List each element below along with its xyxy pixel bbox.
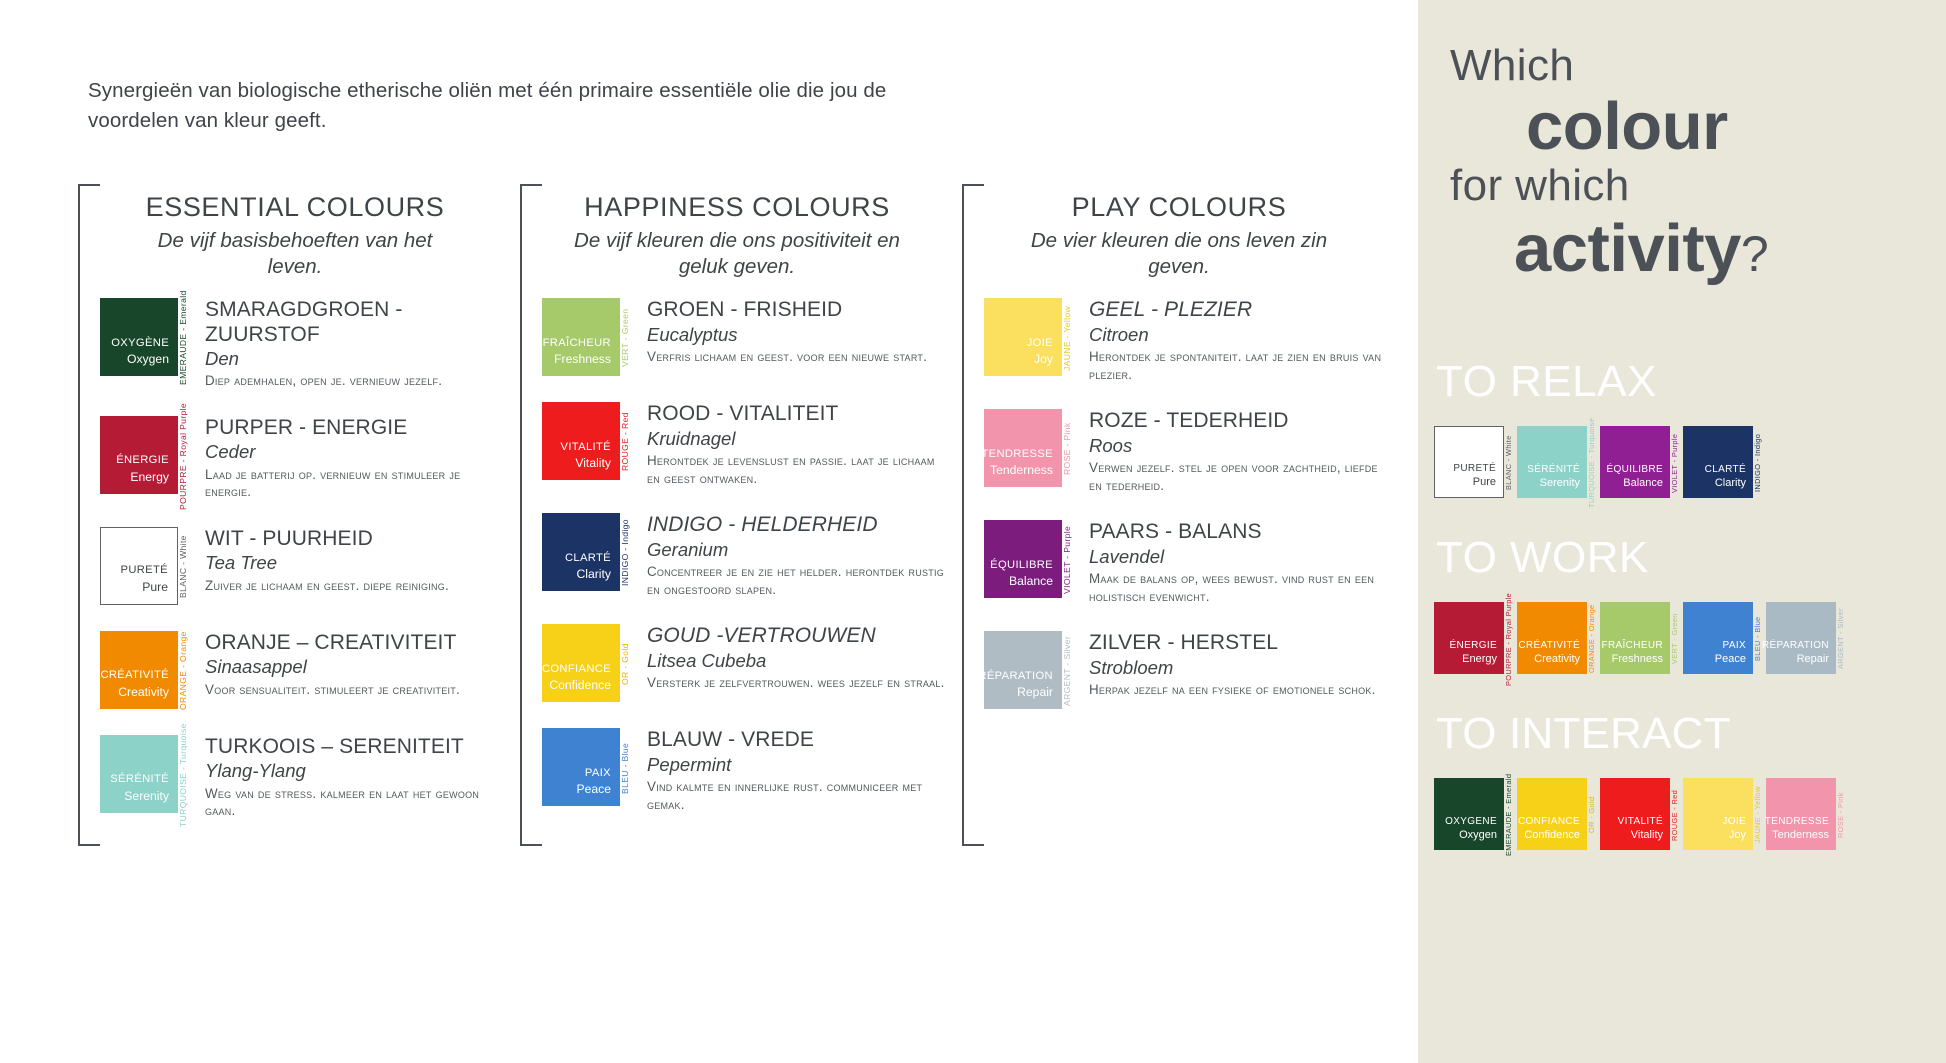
swatch-label-fr: CLARTÉ (1705, 463, 1746, 477)
entry-oil-name: Lavendel (1089, 546, 1388, 568)
swatch-side-label: EMERAUDE - Emerald (1504, 778, 1517, 850)
entry-description: Herontdek je levenslust en passie. Laat … (647, 452, 946, 487)
activity-swatch-strip: ÉNERGIEEnergyPOURPRE - Royal PurpleCRÉAT… (1418, 602, 1946, 674)
hero-line-for-which: for which (1440, 164, 1924, 208)
swatch-label-fr: PURETÉ (121, 563, 168, 578)
swatch-label-fr: TENDRESSE (1765, 815, 1829, 829)
colour-swatch-group: TENDRESSETendernessROSE - Pink (984, 409, 1077, 487)
entry-text: ROOD - VITALITEITKruidnagelHerontdek je … (635, 402, 946, 487)
swatch-label-fr: JOIE (1027, 336, 1053, 351)
swatch-label-en: Pure (1473, 475, 1496, 490)
entry-description: Herontdek je spontaniteit. Laat je zien … (1089, 348, 1388, 383)
hero-line-colour: colour (1440, 92, 1924, 162)
entry-text: ZILVER - HERSTELStrobloemHerpak jezelf n… (1077, 631, 1388, 698)
colour-entry: SÉRÉNITÉSerenityTURQUOISE - TurquoiseTUR… (100, 735, 504, 820)
swatch-label-en: Joy (1729, 828, 1746, 843)
colour-swatch-group: ÉNERGIEEnergyPOURPRE - Royal Purple (1434, 602, 1517, 674)
entry-description: Concentreer je en zie het helder. Heront… (647, 563, 946, 598)
entry-description: Herpak jezelf na een fysieke of emotione… (1089, 681, 1388, 699)
swatch-label-fr: ÉQUILIBRE (1607, 463, 1664, 477)
entry-title: GOUD -VERTROUWEN (647, 624, 946, 648)
swatch-label-fr: JOIE (1722, 815, 1746, 829)
entry-oil-name: Strobloem (1089, 657, 1388, 679)
colour-swatch-group: VITALITÉVitalityROUGE - Red (1600, 778, 1683, 850)
entry-title: BLAUW - VREDE (647, 728, 946, 752)
entry-description: Versterk je zelfvertrouwen. Wees jezelf … (647, 674, 946, 692)
entry-oil-name: Ceder (205, 441, 504, 463)
colour-columns: ESSENTIAL COLOURSDe vijf basisbehoeften … (78, 184, 1398, 846)
swatch-side-label: VIOLET - Purple (1062, 520, 1077, 598)
colour-entry: FRAÎCHEURFreshnessVERT - GreenGROEN - FR… (542, 298, 946, 376)
colour-swatch-group: JOIEJoyJAUNE - Yellow (984, 298, 1077, 376)
colour-entry-list: OXYGÈNEOxygenEMERAUDE - EmeraldSMARAGDGR… (100, 298, 504, 819)
entry-oil-name: Ylang-Ylang (205, 760, 504, 782)
entry-text: SMARAGDGROEN - ZUURSTOFDenDiep ademhalen… (193, 298, 504, 390)
colour-entry: JOIEJoyJAUNE - YellowGEEL - PLEZIERCitro… (984, 298, 1388, 383)
entry-title: ZILVER - HERSTEL (1089, 631, 1388, 655)
swatch-label-en: Serenity (124, 788, 169, 804)
right-panel: Which colour for which activity? TO RELA… (1418, 0, 1946, 1063)
swatch-label-en: Creativity (1534, 652, 1580, 667)
swatch-label-en: Serenity (1540, 476, 1580, 491)
swatch-label-fr: CRÉATIVITÉ (100, 668, 169, 683)
swatch-label-fr: FRAÎCHEUR (1602, 639, 1664, 653)
swatch-label-en: Creativity (118, 684, 169, 700)
activity-title: TO WORK (1418, 536, 1946, 580)
hero-line-which: Which (1440, 44, 1924, 88)
colour-entry-list: FRAÎCHEURFreshnessVERT - GreenGROEN - FR… (542, 298, 946, 813)
activity-swatch-strip: OXYGENEOxygenEMERAUDE - EmeraldCONFIANCE… (1418, 778, 1946, 850)
swatch-label-en: Repair (1797, 652, 1829, 667)
swatch-label-fr: VITALITÉ (561, 440, 611, 455)
swatch-side-label: VERT - Green (620, 298, 635, 376)
swatch-side-label: ARGENT - Silver (1836, 602, 1849, 674)
colour-swatch-group: PAIXPeaceBLEU - Blue (542, 728, 635, 806)
entry-oil-name: Pepermint (647, 754, 946, 776)
swatch-side-label: TURQUOISE - Turquoise (1587, 426, 1600, 498)
colour-entry: PURETÉPureBLANC - WhiteWIT - PUURHEIDTea… (100, 527, 504, 605)
entry-text: ROZE - TEDERHEIDRoosVerwen jezelf. Stel … (1077, 409, 1388, 494)
entry-title: WIT - PUURHEID (205, 527, 504, 551)
colour-swatch-group: OXYGÈNEOxygenEMERAUDE - Emerald (100, 298, 193, 376)
colour-swatch[interactable]: CRÉATIVITÉCreativity (1517, 602, 1587, 674)
entry-oil-name: Sinaasappel (205, 656, 504, 678)
colour-swatch[interactable]: TENDRESSETenderness (1766, 778, 1836, 850)
colour-swatch[interactable]: ÉQUILIBREBalance (1600, 426, 1670, 498)
swatch-label-en: Balance (1623, 476, 1663, 491)
infographic-page: Synergieën van biologische etherische ol… (0, 0, 1946, 1063)
intro-paragraph: Synergieën van biologische etherische ol… (88, 76, 968, 135)
swatch-label-en: Pure (142, 579, 168, 595)
entry-text: GROEN - FRISHEIDEucalyptusVerfris lichaa… (635, 298, 946, 365)
swatch-label-en: Confidence (549, 677, 611, 693)
entry-text: WIT - PUURHEIDTea TreeZuiver je lichaam … (193, 527, 504, 594)
swatch-side-label: ROUGE - Red (1670, 778, 1683, 850)
entry-text: ORANJE – CREATIVITEITSinaasappelVoor sen… (193, 631, 504, 698)
colour-swatch-group: FRAÎCHEURFreshnessVERT - Green (1600, 602, 1683, 674)
colour-swatch[interactable]: SÉRÉNITÉSerenity (1517, 426, 1587, 498)
colour-swatch[interactable]: OXYGENEOxygen (1434, 778, 1504, 850)
entry-description: Laad je batterij op. Vernieuw en stimule… (205, 466, 504, 501)
swatch-label-en: Freshness (554, 351, 611, 367)
swatch-label-en: Oxygen (127, 351, 169, 367)
entry-title: ROOD - VITALITEIT (647, 402, 946, 426)
entry-title: PAARS - BALANS (1089, 520, 1388, 544)
swatch-side-label: VERT - Green (1670, 602, 1683, 674)
swatch-label-fr: SÉRÉNITÉ (1527, 463, 1580, 477)
swatch-label-fr: VITALITÉ (1618, 815, 1663, 829)
activity-section: TO INTERACTOXYGENEOxygenEMERAUDE - Emera… (1418, 712, 1946, 850)
entry-oil-name: Tea Tree (205, 552, 504, 574)
swatch-label-fr: CRÉATIVITÉ (1518, 639, 1580, 653)
swatch-side-label: BLANC - White (178, 527, 193, 605)
swatch-label-en: Joy (1034, 351, 1053, 367)
colour-swatch[interactable]: RÉPARATIONRepair (984, 631, 1062, 709)
swatch-label-fr: SÉRÉNITÉ (110, 772, 169, 787)
swatch-side-label: POURPRE - Royal Purple (178, 416, 193, 494)
colour-swatch-group: CRÉATIVITÉCreativityORANGE - Orange (1517, 602, 1600, 674)
swatch-side-label: ORANGE - Orange (178, 631, 193, 709)
swatch-label-fr: CONFIANCE (1518, 815, 1580, 829)
entry-description: Diep ademhalen, open je. Vernieuw jezelf… (205, 372, 504, 390)
column-title: HAPPINESS COLOURS (548, 192, 926, 223)
colour-swatch-group: CONFIANCEConfidenceOR - Gold (1517, 778, 1600, 850)
colour-swatch-group: PAIXPeaceBLEU - Blue (1683, 602, 1766, 674)
column-header: PLAY COLOURSDe vier kleuren die ons leve… (984, 184, 1388, 280)
swatch-label-fr: RÉPARATION (1762, 639, 1829, 653)
left-content-area: Synergieën van biologische etherische ol… (0, 0, 1418, 1063)
colour-swatch[interactable]: FRAÎCHEURFreshness (542, 298, 620, 376)
colour-swatch[interactable]: CRÉATIVITÉCreativity (100, 631, 178, 709)
swatch-side-label: BLEU - Blue (620, 728, 635, 806)
entry-title: INDIGO - HELDERHEID (647, 513, 946, 537)
swatch-label-en: Clarity (1715, 476, 1746, 491)
swatch-label-fr: OXYGÈNE (111, 336, 169, 351)
colour-swatch[interactable]: ÉNERGIEEnergy (100, 416, 178, 494)
colour-swatch[interactable]: PURETÉPure (1434, 426, 1504, 498)
swatch-side-label: ORANGE - Orange (1587, 602, 1600, 674)
activity-swatch-strip: PURETÉPureBLANC - WhiteSÉRÉNITÉSerenityT… (1418, 426, 1946, 498)
colour-column: ESSENTIAL COLOURSDe vijf basisbehoeften … (78, 184, 514, 846)
activity-title: TO RELAX (1418, 360, 1946, 404)
entry-text: BLAUW - VREDEPepermintVind kalmte en inn… (635, 728, 946, 813)
swatch-label-en: Peace (1715, 652, 1746, 667)
colour-swatch[interactable]: PAIXPeace (1683, 602, 1753, 674)
swatch-label-en: Repair (1017, 684, 1053, 700)
colour-swatch-group: SÉRÉNITÉSerenityTURQUOISE - Turquoise (1517, 426, 1600, 498)
column-subtitle: De vijf kleuren die ons positiviteit en … (548, 228, 926, 280)
activity-section: TO WORKÉNERGIEEnergyPOURPRE - Royal Purp… (1418, 536, 1946, 674)
colour-column: HAPPINESS COLOURSDe vijf kleuren die ons… (520, 184, 956, 846)
colour-swatch-group: FRAÎCHEURFreshnessVERT - Green (542, 298, 635, 376)
colour-swatch[interactable]: CLARTÉClarity (542, 513, 620, 591)
colour-swatch-group: JOIEJoyJAUNE - Yellow (1683, 778, 1766, 850)
swatch-side-label: POURPRE - Royal Purple (1504, 602, 1517, 674)
swatch-label-en: Vitality (575, 455, 611, 471)
swatch-label-en: Freshness (1612, 652, 1663, 667)
activity-section: TO RELAXPURETÉPureBLANC - WhiteSÉRÉNITÉS… (1418, 360, 1946, 498)
hero-activity-word: activity (1514, 211, 1741, 286)
entry-description: Verwen jezelf. Stel je open voor zachthe… (1089, 459, 1388, 494)
colour-entry: ÉQUILIBREBalanceVIOLET - PurplePAARS - B… (984, 520, 1388, 605)
entry-oil-name: Roos (1089, 435, 1388, 457)
swatch-label-en: Energy (1462, 652, 1497, 667)
entry-oil-name: Litsea Cubeba (647, 650, 946, 672)
colour-swatch[interactable]: VITALITÉVitality (542, 402, 620, 480)
swatch-side-label: EMERAUDE - Emerald (178, 298, 193, 376)
swatch-label-fr: PURETÉ (1453, 462, 1496, 476)
swatch-side-label: TURQUOISE - Turquoise (178, 735, 193, 813)
entry-oil-name: Den (205, 348, 504, 370)
colour-swatch-group: PURETÉPureBLANC - White (100, 527, 193, 605)
entry-oil-name: Citroen (1089, 324, 1388, 346)
swatch-side-label: OR - Gold (620, 624, 635, 702)
entry-text: GEEL - PLEZIERCitroenHerontdek je sponta… (1077, 298, 1388, 383)
colour-swatch-group: CLARTÉClarityINDIGO - Indigo (542, 513, 635, 591)
swatch-side-label: ROSE - Pink (1836, 778, 1849, 850)
swatch-label-en: Balance (1009, 573, 1053, 589)
colour-swatch-group: ÉQUILIBREBalanceVIOLET - Purple (1600, 426, 1683, 498)
colour-swatch[interactable]: FRAÎCHEURFreshness (1600, 602, 1670, 674)
colour-swatch-group: RÉPARATIONRepairARGENT - Silver (1766, 602, 1849, 674)
swatch-label-en: Clarity (576, 566, 611, 582)
colour-swatch[interactable]: CONFIANCEConfidence (542, 624, 620, 702)
hero-line-activity: activity? (1440, 214, 1924, 284)
entry-title: PURPER - ENERGIE (205, 416, 504, 440)
entry-text: TURKOOIS – SERENITEITYlang-YlangWeg van … (193, 735, 504, 820)
swatch-label-en: Oxygen (1459, 828, 1497, 843)
entry-description: Weg van de stress. Kalmeer en laat het g… (205, 785, 504, 820)
colour-swatch-group: TENDRESSETendernessROSE - Pink (1766, 778, 1849, 850)
entry-description: Voor sensualiteit. Stimuleert je creativ… (205, 681, 504, 699)
entry-description: Zuiver je lichaam en geest. Diepe reinig… (205, 577, 504, 595)
column-title: PLAY COLOURS (990, 192, 1368, 223)
column-subtitle: De vijf basisbehoeften van het leven. (106, 228, 484, 280)
swatch-label-fr: ÉQUILIBRE (990, 558, 1053, 573)
swatch-label-en: Tenderness (1772, 828, 1829, 843)
swatch-label-fr: TENDRESSE (981, 447, 1053, 462)
entry-title: GROEN - FRISHEID (647, 298, 946, 322)
swatch-side-label: VIOLET - Purple (1670, 426, 1683, 498)
swatch-label-en: Energy (130, 469, 169, 485)
swatch-side-label: BLANC - White (1504, 426, 1517, 498)
colour-entry: OXYGÈNEOxygenEMERAUDE - EmeraldSMARAGDGR… (100, 298, 504, 390)
entry-description: Vind kalmte en innerlijke rust. Communic… (647, 778, 946, 813)
swatch-side-label: JAUNE - Yellow (1062, 298, 1077, 376)
colour-entry-list: JOIEJoyJAUNE - YellowGEEL - PLEZIERCitro… (984, 298, 1388, 709)
swatch-side-label: ROUGE - Red (620, 402, 635, 480)
colour-column: PLAY COLOURSDe vier kleuren die ons leve… (962, 184, 1398, 846)
swatch-label-fr: CLARTÉ (565, 551, 611, 566)
colour-swatch-group: CLARTÉClarityINDIGO - Indigo (1683, 426, 1766, 498)
colour-swatch[interactable]: CLARTÉClarity (1683, 426, 1753, 498)
colour-swatch[interactable]: JOIEJoy (1683, 778, 1753, 850)
colour-swatch[interactable]: CONFIANCEConfidence (1517, 778, 1587, 850)
colour-swatch-group: PURETÉPureBLANC - White (1434, 426, 1517, 498)
colour-entry: RÉPARATIONRepairARGENT - SilverZILVER - … (984, 631, 1388, 709)
swatch-side-label: OR - Gold (1587, 778, 1600, 850)
entry-oil-name: Geranium (647, 539, 946, 561)
column-header: HAPPINESS COLOURSDe vijf kleuren die ons… (542, 184, 946, 280)
colour-swatch-group: RÉPARATIONRepairARGENT - Silver (984, 631, 1077, 709)
entry-text: INDIGO - HELDERHEIDGeraniumConcentreer j… (635, 513, 946, 598)
colour-swatch[interactable]: RÉPARATIONRepair (1766, 602, 1836, 674)
colour-swatch-group: OXYGENEOxygenEMERAUDE - Emerald (1434, 778, 1517, 850)
colour-swatch[interactable]: TENDRESSETenderness (984, 409, 1062, 487)
swatch-side-label: INDIGO - Indigo (1753, 426, 1766, 498)
swatch-label-en: Confidence (1524, 828, 1580, 843)
colour-swatch-group: SÉRÉNITÉSerenityTURQUOISE - Turquoise (100, 735, 193, 813)
entry-title: SMARAGDGROEN - ZUURSTOF (205, 298, 504, 347)
entry-description: Verfris lichaam en geest. Voor een nieuw… (647, 348, 946, 366)
entry-title: GEEL - PLEZIER (1089, 298, 1388, 322)
colour-entry: VITALITÉVitalityROUGE - RedROOD - VITALI… (542, 402, 946, 487)
entry-title: TURKOOIS – SERENITEIT (205, 735, 504, 759)
swatch-label-en: Peace (576, 781, 611, 797)
colour-entry: CONFIANCEConfidenceOR - GoldGOUD -VERTRO… (542, 624, 946, 702)
column-subtitle: De vier kleuren die ons leven zin geven. (990, 228, 1368, 280)
colour-swatch[interactable]: ÉNERGIEEnergy (1434, 602, 1504, 674)
swatch-label-fr: CONFIANCE (542, 662, 611, 677)
colour-swatch-group: ÉNERGIEEnergyPOURPRE - Royal Purple (100, 416, 193, 494)
entry-oil-name: Kruidnagel (647, 428, 946, 450)
swatch-label-fr: PAIX (585, 766, 611, 781)
colour-swatch[interactable]: VITALITÉVitality (1600, 778, 1670, 850)
colour-swatch[interactable]: PURETÉPure (100, 527, 178, 605)
entry-title: ORANJE – CREATIVITEIT (205, 631, 504, 655)
colour-swatch-group: CRÉATIVITÉCreativityORANGE - Orange (100, 631, 193, 709)
colour-entry: CLARTÉClarityINDIGO - IndigoINDIGO - HEL… (542, 513, 946, 598)
colour-entry: CRÉATIVITÉCreativityORANGE - OrangeORANJ… (100, 631, 504, 709)
entry-text: PAARS - BALANSLavendelMaak de balans op,… (1077, 520, 1388, 605)
colour-swatch-group: VITALITÉVitalityROUGE - Red (542, 402, 635, 480)
entry-title: ROZE - TEDERHEID (1089, 409, 1388, 433)
column-header: ESSENTIAL COLOURSDe vijf basisbehoeften … (100, 184, 504, 280)
swatch-label-fr: FRAÎCHEUR (543, 336, 611, 351)
swatch-label-fr: RÉPARATION (978, 669, 1053, 684)
column-title: ESSENTIAL COLOURS (106, 192, 484, 223)
entry-text: PURPER - ENERGIECederLaad je batterij op… (193, 416, 504, 501)
swatch-side-label: ROSE - Pink (1062, 409, 1077, 487)
entry-text: GOUD -VERTROUWENLitsea CubebaVersterk je… (635, 624, 946, 691)
swatch-label-fr: OXYGENE (1445, 815, 1497, 829)
colour-swatch[interactable]: OXYGÈNEOxygen (100, 298, 178, 376)
colour-entry: ÉNERGIEEnergyPOURPRE - Royal PurplePURPE… (100, 416, 504, 501)
entry-description: Maak de balans op, wees bewust. Vind rus… (1089, 570, 1388, 605)
colour-swatch[interactable]: JOIEJoy (984, 298, 1062, 376)
swatch-label-fr: ÉNERGIE (116, 453, 169, 468)
colour-swatch[interactable]: ÉQUILIBREBalance (984, 520, 1062, 598)
swatch-side-label: ARGENT - Silver (1062, 631, 1077, 709)
swatch-label-en: Vitality (1631, 828, 1663, 843)
colour-swatch[interactable]: SÉRÉNITÉSerenity (100, 735, 178, 813)
colour-swatch[interactable]: PAIXPeace (542, 728, 620, 806)
colour-entry: PAIXPeaceBLEU - BlueBLAUW - VREDEPepermi… (542, 728, 946, 813)
swatch-label-en: Tenderness (990, 462, 1053, 478)
hero-question-mark: ? (1741, 226, 1768, 282)
swatch-label-fr: ÉNERGIE (1450, 639, 1497, 653)
activity-title: TO INTERACT (1418, 712, 1946, 756)
colour-entry: TENDRESSETendernessROSE - PinkROZE - TED… (984, 409, 1388, 494)
entry-oil-name: Eucalyptus (647, 324, 946, 346)
colour-swatch-group: ÉQUILIBREBalanceVIOLET - Purple (984, 520, 1077, 598)
hero-title-block: Which colour for which activity? (1418, 44, 1946, 285)
colour-swatch-group: CONFIANCEConfidenceOR - Gold (542, 624, 635, 702)
swatch-side-label: INDIGO - Indigo (620, 513, 635, 591)
swatch-label-fr: PAIX (1723, 639, 1746, 653)
